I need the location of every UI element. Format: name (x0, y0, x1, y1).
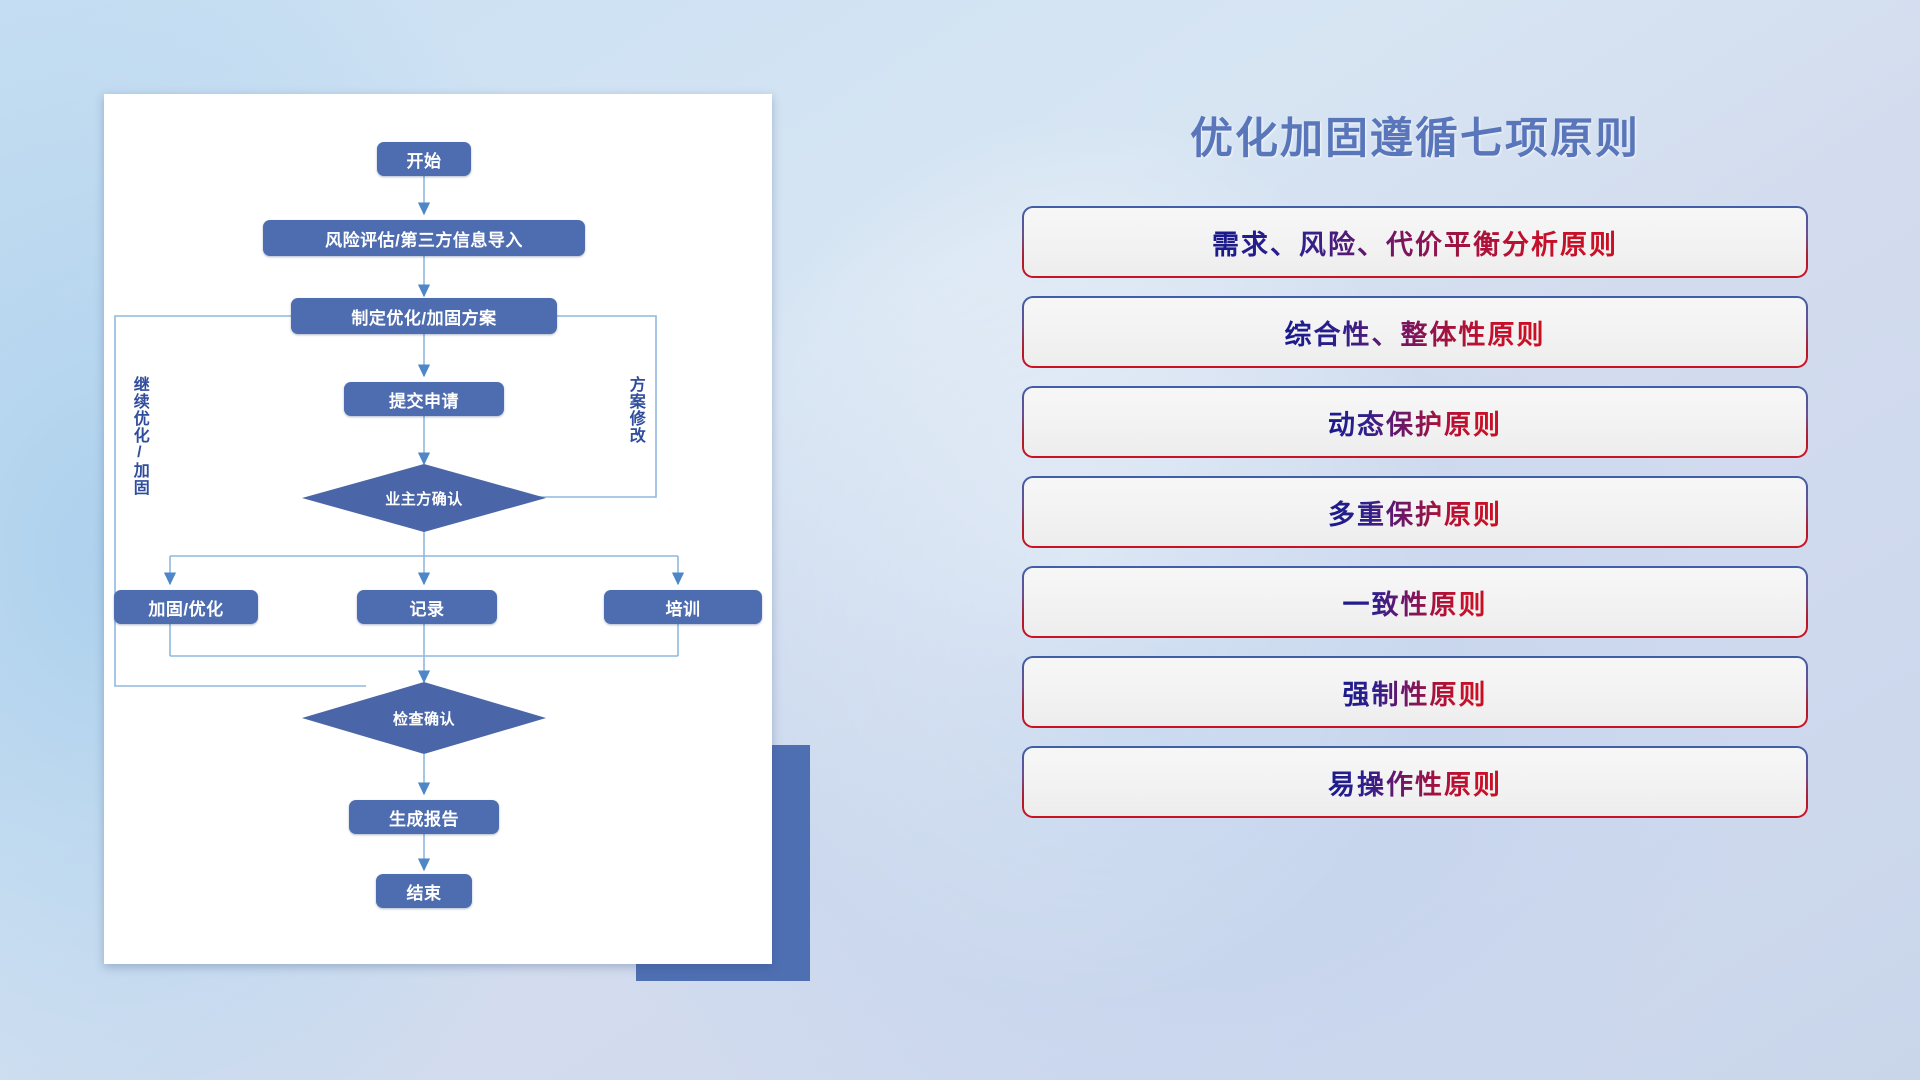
flow-node-label: 开始 (407, 147, 442, 172)
flow-node-label: 制定优化/加固方案 (351, 304, 496, 329)
principle-card-inner: 易操作性原则 (1024, 748, 1806, 816)
flow-edge-label-continue-optimize: 继续优化/加固 (130, 376, 147, 496)
flow-node-label: 业主方确认 (385, 488, 463, 509)
flow-node-label: 加固/优化 (148, 595, 223, 620)
flow-node-label: 生成报告 (389, 805, 459, 830)
principle-card-inner: 综合性、整体性原则 (1024, 298, 1806, 366)
principle-card-inner: 强制性原则 (1024, 658, 1806, 726)
flow-node-label: 结束 (407, 879, 442, 904)
flow-node-risk-assessment[interactable]: 风险评估/第三方信息导入 (263, 220, 585, 256)
principle-card[interactable]: 一致性原则 (1022, 566, 1808, 638)
principle-card[interactable]: 强制性原则 (1022, 656, 1808, 728)
flow-node-submit-application[interactable]: 提交申请 (344, 382, 504, 416)
principle-card[interactable]: 动态保护原则 (1022, 386, 1808, 458)
flow-node-generate-report[interactable]: 生成报告 (349, 800, 499, 834)
flow-node-plan[interactable]: 制定优化/加固方案 (291, 298, 557, 334)
flow-node-record[interactable]: 记录 (357, 590, 497, 624)
flow-node-label: 提交申请 (389, 387, 459, 412)
principle-card[interactable]: 易操作性原则 (1022, 746, 1808, 818)
flow-decision-check-confirm[interactable]: 检查确认 (302, 682, 546, 754)
flow-node-label: 检查确认 (393, 708, 455, 729)
principle-card[interactable]: 多重保护原则 (1022, 476, 1808, 548)
principle-label: 强制性原则 (1343, 673, 1488, 712)
principle-label: 综合性、整体性原则 (1285, 313, 1546, 352)
principle-label: 需求、风险、代价平衡分析原则 (1212, 223, 1618, 262)
flow-edge-label-plan-revision: 方案修改 (626, 376, 643, 444)
flow-node-label: 记录 (410, 595, 445, 620)
flow-node-label: 风险评估/第三方信息导入 (325, 226, 523, 251)
flow-node-training[interactable]: 培训 (604, 590, 762, 624)
flow-node-start[interactable]: 开始 (377, 142, 471, 176)
flow-node-label: 培训 (666, 595, 701, 620)
flowchart-card: 开始 风险评估/第三方信息导入 制定优化/加固方案 提交申请 业主方确认 加固/… (104, 94, 772, 964)
principle-label: 一致性原则 (1343, 583, 1488, 622)
flow-decision-owner-confirm[interactable]: 业主方确认 (302, 464, 546, 532)
principle-card-inner: 多重保护原则 (1024, 478, 1806, 546)
principle-card[interactable]: 需求、风险、代价平衡分析原则 (1022, 206, 1808, 278)
principle-card-inner: 需求、风险、代价平衡分析原则 (1024, 208, 1806, 276)
panel-title: 优化加固遵循七项原则 (1022, 104, 1808, 166)
principle-label: 动态保护原则 (1328, 403, 1502, 442)
principle-card-inner: 一致性原则 (1024, 568, 1806, 636)
flow-node-end[interactable]: 结束 (376, 874, 472, 908)
flow-node-reinforce[interactable]: 加固/优化 (114, 590, 258, 624)
principles-panel: 优化加固遵循七项原则 需求、风险、代价平衡分析原则 综合性、整体性原则 动态保护… (1022, 104, 1808, 1004)
slide-canvas: 开始 风险评估/第三方信息导入 制定优化/加固方案 提交申请 业主方确认 加固/… (0, 0, 1920, 1080)
principle-card[interactable]: 综合性、整体性原则 (1022, 296, 1808, 368)
principle-label: 多重保护原则 (1328, 493, 1502, 532)
principle-label: 易操作性原则 (1328, 763, 1502, 802)
principle-card-inner: 动态保护原则 (1024, 388, 1806, 456)
